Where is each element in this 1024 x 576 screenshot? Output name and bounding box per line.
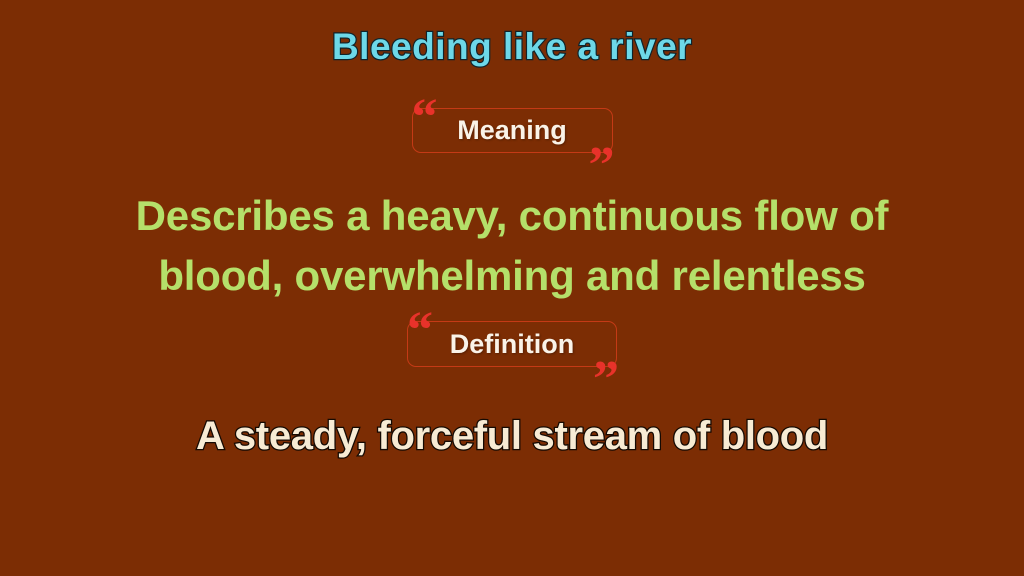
meaning-body-line-2: blood, overwhelming and relentless <box>60 246 964 306</box>
quote-open-icon: “ <box>412 92 438 144</box>
quote-close-icon: ” <box>593 354 619 406</box>
quote-close-icon: ” <box>589 140 615 192</box>
meaning-body-text: Describes a heavy, continuous flow of bl… <box>0 186 1024 305</box>
meaning-badge: “ Meaning ” <box>412 108 613 153</box>
page-title: Bleeding like a river <box>0 28 1024 67</box>
meaning-body-line-1: Describes a heavy, continuous flow of <box>60 186 964 246</box>
definition-badge-container: “ Definition ” <box>0 321 1024 367</box>
definition-badge-label: Definition <box>450 331 574 358</box>
slide-canvas: Bleeding like a river “ Meaning ” Descri… <box>0 0 1024 576</box>
definition-badge: “ Definition ” <box>407 321 617 367</box>
quote-open-icon: “ <box>407 305 433 357</box>
meaning-badge-container: “ Meaning ” <box>0 108 1024 153</box>
meaning-badge-label: Meaning <box>457 117 567 144</box>
definition-body-text: A steady, forceful stream of blood <box>0 412 1024 460</box>
